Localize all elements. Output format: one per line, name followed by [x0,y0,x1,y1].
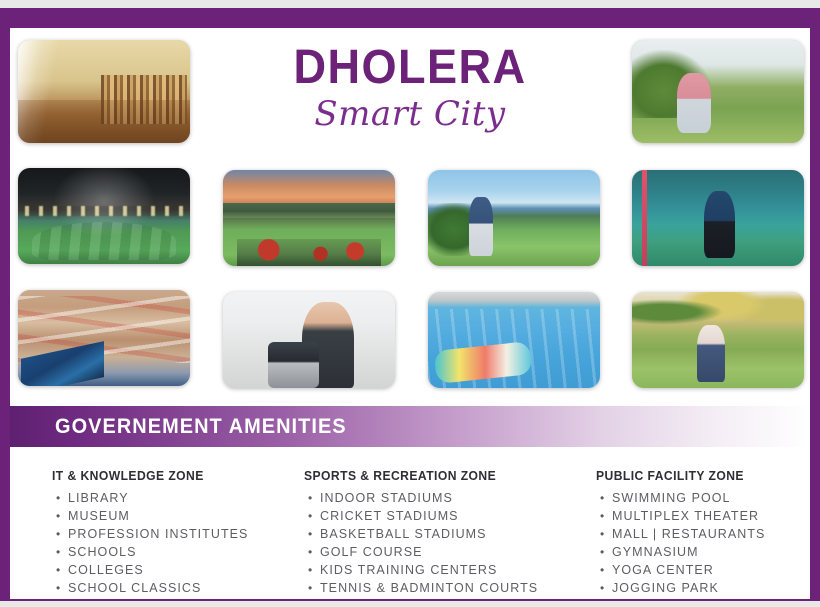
amenities-banner-title: GOVERNEMENT AMENITIES [55,415,347,439]
page-title: DHOLERA [222,44,598,92]
list-item: •SWIMMING POOL [612,489,765,507]
poster-frame: DHOLERA Smart City [0,8,820,601]
list-item-label: SCHOOL CLASSICS [68,581,201,595]
list-item-label: MULTIPLEX THEATER [612,509,759,523]
bullet-icon: • [308,507,312,525]
zone-column-public-facility: PUBLIC FACILITY ZONE •SWIMMING POOL •MUL… [596,469,765,597]
list-item-label: TENNIS & BADMINTON COURTS [320,581,538,595]
bullet-icon: • [56,525,60,543]
jogging-park-photo [632,292,804,388]
bullet-icon: • [308,561,312,579]
tennis-badminton-photo [632,170,804,266]
bullet-icon: • [56,579,60,597]
bullet-icon: • [600,561,604,579]
poster-header: DHOLERA Smart City [10,28,810,168]
list-item-label: SWIMMING POOL [612,491,731,505]
family-running-photo-image [632,40,804,143]
page-subtitle: Smart City [210,96,610,133]
zone-title: IT & KNOWLEDGE ZONE [52,469,243,483]
bullet-icon: • [600,543,604,561]
bullet-icon: • [56,489,60,507]
list-item-label: PROFESSION INSTITUTES [68,527,248,541]
list-item: •MUSEUM [68,507,248,525]
list-item: •BASKETBALL STADIUMS [320,525,538,543]
list-item: •LIBRARY [68,489,248,507]
zone-column-sports-recreation: SPORTS & RECREATION ZONE •INDOOR STADIUM… [304,469,538,597]
zone-column-it-knowledge: IT & KNOWLEDGE ZONE •LIBRARY •MUSEUM •PR… [52,469,248,597]
list-item: •MULTIPLEX THEATER [612,507,765,525]
zone-list: •INDOOR STADIUMS •CRICKET STADIUMS •BASK… [304,489,538,597]
indoor-stadium-photo-image [18,168,190,264]
zone-title: PUBLIC FACILITY ZONE [596,469,760,483]
list-item: •JOGGING PARK [612,579,765,597]
list-item-label: GYMNASIUM [612,545,699,559]
list-item: •COLLEGES [68,561,248,579]
bullet-icon: • [600,507,604,525]
zone-title: SPORTS & RECREATION ZONE [304,469,531,483]
golf-course-photo-image [428,170,600,266]
golf-course-photo [428,170,600,266]
list-item-label: MUSEUM [68,509,130,523]
list-item: •GYMNASIUM [612,543,765,561]
mall-photo [18,290,190,386]
bullet-icon: • [308,543,312,561]
cricket-stadium-photo [223,170,395,266]
list-item-label: BASKETBALL STADIUMS [320,527,487,541]
amenities-zones: IT & KNOWLEDGE ZONE •LIBRARY •MUSEUM •PR… [10,447,810,599]
list-item-label: LIBRARY [68,491,129,505]
bullet-icon: • [600,525,604,543]
list-item-label: INDOOR STADIUMS [320,491,453,505]
zone-list: •LIBRARY •MUSEUM •PROFESSION INSTITUTES … [52,489,248,597]
cricket-stadium-photo-image [223,170,395,266]
swimming-pool-photo-image [428,292,600,388]
list-item-label: KIDS TRAINING CENTERS [320,563,497,577]
list-item: •GOLF COURSE [320,543,538,561]
swimming-pool-photo [428,292,600,388]
library-photo [18,40,190,143]
list-item-label: SCHOOLS [68,545,136,559]
amenities-banner: GOVERNEMENT AMENITIES [10,406,810,447]
bullet-icon: • [308,525,312,543]
bullet-icon: • [56,543,60,561]
list-item: •SCHOOLS [68,543,248,561]
family-running-photo [632,40,804,143]
list-item: •YOGA CENTER [612,561,765,579]
list-item-label: JOGGING PARK [612,581,719,595]
indoor-stadium-photo [18,168,190,264]
title-block: DHOLERA Smart City [210,44,610,133]
list-item-label: COLLEGES [68,563,144,577]
list-item: •CRICKET STADIUMS [320,507,538,525]
list-item: •SCHOOL CLASSICS [68,579,248,597]
list-item: •KIDS TRAINING CENTERS [320,561,538,579]
bullet-icon: • [56,507,60,525]
list-item: •TENNIS & BADMINTON COURTS [320,579,538,597]
gymnasium-photo-image [223,292,395,388]
list-item: •PROFESSION INSTITUTES [68,525,248,543]
jogging-park-photo-image [632,292,804,388]
gymnasium-photo [223,292,395,388]
mall-photo-image [18,290,190,386]
list-item-label: MALL | RESTAURANTS [612,527,765,541]
list-item: •INDOOR STADIUMS [320,489,538,507]
list-item-label: CRICKET STADIUMS [320,509,459,523]
bullet-icon: • [308,579,312,597]
list-item: •MALL | RESTAURANTS [612,525,765,543]
zone-list: •SWIMMING POOL •MULTIPLEX THEATER •MALL … [596,489,765,597]
bullet-icon: • [56,561,60,579]
list-item-label: YOGA CENTER [612,563,714,577]
list-item-label: GOLF COURSE [320,545,423,559]
tennis-badminton-photo-image [632,170,804,266]
bullet-icon: • [600,489,604,507]
bullet-icon: • [308,489,312,507]
library-photo-image [18,40,190,143]
bullet-icon: • [600,579,604,597]
poster-canvas: DHOLERA Smart City [10,28,810,599]
